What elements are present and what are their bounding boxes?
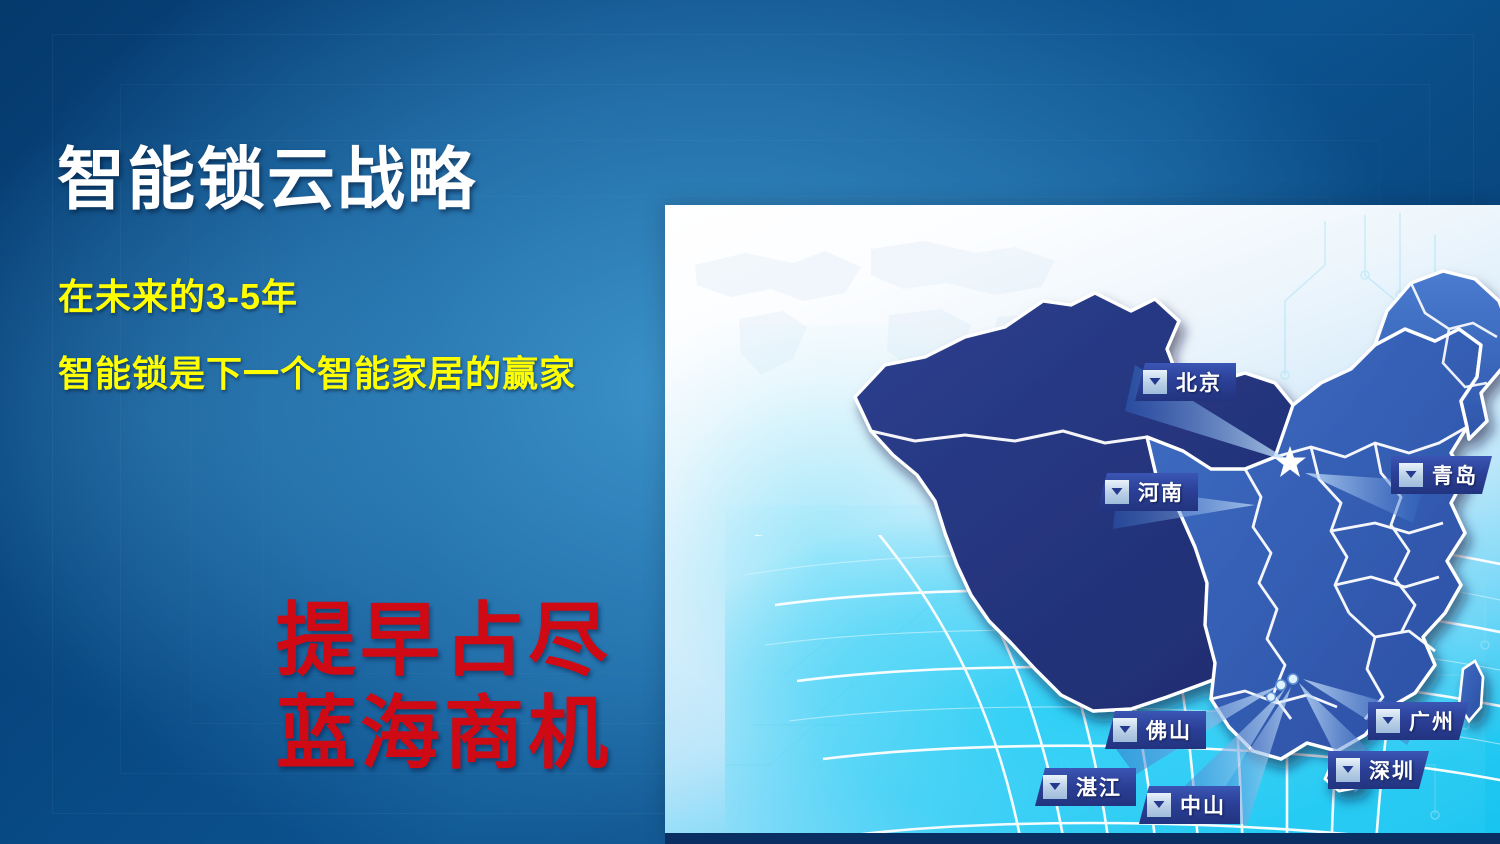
subtitle-line-2: 智能锁是下一个智能家居的赢家 xyxy=(58,345,576,397)
callout-line-1: 提早占尽 xyxy=(276,595,656,688)
map-label-zhongshan[interactable]: 中山 xyxy=(1139,786,1240,824)
map-label-text: 河南 xyxy=(1138,477,1184,507)
map-label-beijing[interactable]: 北京 xyxy=(1135,363,1236,401)
map-label-zhanjiang[interactable]: 湛江 xyxy=(1035,768,1136,806)
china-coverage-map: 北京 青岛 河南 佛山 湛江 xyxy=(665,205,1500,833)
map-bottom-bar xyxy=(665,833,1500,844)
map-label-guangzhou[interactable]: 广州 xyxy=(1368,702,1469,740)
callout-block: 提早占尽 蓝海商机 xyxy=(276,595,656,781)
map-label-text: 湛江 xyxy=(1076,772,1122,802)
map-label-text: 青岛 xyxy=(1432,460,1478,490)
chevron-down-icon xyxy=(1113,718,1137,742)
map-label-text: 广州 xyxy=(1409,706,1455,736)
chevron-down-icon xyxy=(1399,463,1423,487)
star-marker-icon xyxy=(1273,445,1307,479)
callout-line-2: 蓝海商机 xyxy=(276,688,656,781)
chevron-down-icon xyxy=(1043,775,1067,799)
chevron-down-icon xyxy=(1336,758,1360,782)
map-label-text: 佛山 xyxy=(1146,715,1192,745)
map-label-henan[interactable]: 河南 xyxy=(1097,473,1198,511)
map-label-text: 北京 xyxy=(1176,367,1222,397)
map-label-text: 中山 xyxy=(1180,790,1226,820)
subtitle-line-1: 在未来的3-5年 xyxy=(58,268,298,320)
map-label-shenzhen[interactable]: 深圳 xyxy=(1328,751,1429,789)
map-label-foshan[interactable]: 佛山 xyxy=(1105,711,1206,749)
chevron-down-icon xyxy=(1376,709,1400,733)
map-label-text: 深圳 xyxy=(1369,755,1415,785)
chevron-down-icon xyxy=(1147,793,1171,817)
chevron-down-icon xyxy=(1143,370,1167,394)
slide-canvas: 智能锁云战略 在未来的3-5年 智能锁是下一个智能家居的赢家 提早占尽 蓝海商机 xyxy=(0,0,1500,844)
map-label-qingdao[interactable]: 青岛 xyxy=(1391,456,1492,494)
chevron-down-icon xyxy=(1105,480,1129,504)
page-title: 智能锁云战略 xyxy=(57,145,477,216)
